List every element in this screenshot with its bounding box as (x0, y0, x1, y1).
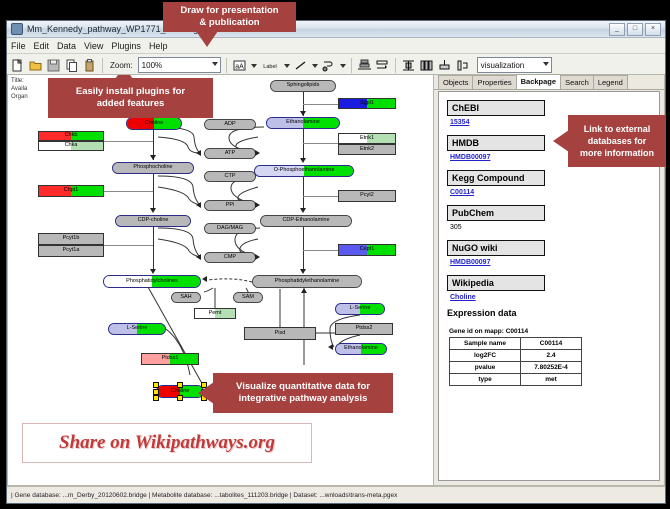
db-value-pubchem: 305 (450, 224, 651, 231)
copy-icon[interactable] (64, 58, 79, 73)
status-bar-text: | Gene database: ...m_Derby_20120602.bri… (11, 492, 397, 499)
node-label: CTP (225, 174, 236, 180)
node-label: ATP (225, 151, 235, 157)
node-label: Ptdss1 (162, 356, 179, 362)
metabolite-node-cdp-ethanolamine[interactable]: CDP-Ethanolamine (260, 215, 352, 227)
gene-node-pcyt2[interactable]: Pcyt2 (338, 190, 396, 202)
db-header-chebi: ChEBI (447, 100, 545, 116)
node-label: CDP-choline (138, 218, 169, 224)
group-icon[interactable] (437, 58, 452, 73)
toolbar-separator (395, 58, 396, 73)
node-label: Choline (171, 389, 190, 395)
callout-draw-tail (196, 31, 218, 47)
node-label: Pcyt2 (360, 193, 374, 199)
metabolite-node-ethanolamine-right[interactable]: Ethanolamine (335, 343, 387, 355)
callout-plugins: Easily install plugins for added feature… (48, 78, 213, 118)
callout-visualize-tail (198, 382, 214, 404)
menu-item-edit[interactable]: Edit (34, 41, 50, 51)
menu-item-file[interactable]: File (11, 41, 26, 51)
node-label: Ethanolamine (286, 120, 320, 126)
text-label-icon[interactable]: aA (232, 58, 247, 73)
db-header-pubchem: PubChem (447, 205, 545, 221)
callout-draw: Draw for presentation & publication (163, 2, 296, 32)
metabolite-node-sam[interactable]: SAM (233, 292, 263, 303)
db-header-wikipedia: Wikipedia (447, 275, 545, 291)
node-label: L-Serine (127, 326, 148, 332)
window-controls: _ □ × (609, 23, 661, 36)
metabolite-node-ethanolamine-top[interactable]: Ethanolamine (266, 117, 340, 129)
paste-icon[interactable] (82, 58, 97, 73)
app-icon (11, 23, 23, 35)
node-label: Chkb (65, 133, 78, 139)
arrow-icon (150, 208, 156, 213)
arrow-icon (255, 254, 260, 260)
gene-node-ptdss1[interactable]: Ptdss1 (141, 353, 199, 365)
chevron-down-icon (212, 62, 218, 66)
arrow-icon (202, 276, 207, 282)
open-folder-icon[interactable] (28, 58, 43, 73)
share-banner: Share on Wikipathways.org (22, 423, 312, 463)
gene-node-cept1[interactable]: Cept1 (338, 244, 396, 256)
table-cell-value: 7.80252E-4 (521, 362, 582, 374)
gene-node-ptdss2[interactable]: Ptdss2 (335, 323, 393, 335)
menu-item-view[interactable]: View (84, 41, 103, 51)
metabolite-node-cdp-choline[interactable]: CDP-choline (115, 215, 191, 227)
table-row: Sample nameC00114 (450, 338, 582, 350)
node-label: Phosphatidylethanolamine (275, 279, 340, 285)
chevron-down-icon (543, 62, 549, 66)
node-label: CDP-Ethanolamine (282, 218, 329, 224)
zoom-value: 100% (142, 61, 162, 70)
svg-text:Label: Label (263, 64, 276, 70)
node-label: Pisd (275, 331, 286, 337)
order-icon[interactable] (375, 58, 390, 73)
gene-node-chka[interactable]: Chka (38, 141, 104, 151)
node-label: DAG/MAG (217, 226, 243, 232)
selection-handle[interactable] (153, 382, 159, 388)
node-label: Chpt1 (64, 188, 79, 194)
gene-node-sgpl1[interactable]: Sgpl1 (338, 98, 396, 109)
align-icon[interactable] (357, 58, 372, 73)
node-label: Pcyt1b (63, 236, 80, 242)
chevron-down-icon[interactable] (311, 59, 318, 72)
node-label: Etnk2 (360, 147, 374, 153)
metabolite-node-cmp[interactable]: CMP (204, 252, 256, 263)
metabolite-node-l-serine-right[interactable]: L-Serine (335, 303, 385, 315)
gene-id-line: Gene id on mapp: C00114 (449, 328, 651, 335)
gene-node-pcyt1b[interactable]: Pcyt1b (38, 233, 104, 245)
anchor-tool-icon[interactable] (321, 58, 336, 73)
callout-visualize: Visualize quantitative data for integrat… (213, 373, 393, 413)
arrow-icon (196, 202, 201, 208)
node-label: Phosphocholine (133, 165, 172, 171)
node-label: Pemt (209, 311, 222, 317)
table-cell-key: log2FC (450, 350, 521, 362)
gene-node-pemt[interactable]: Pemt (194, 308, 236, 319)
node-label: Ethanolamine (344, 346, 378, 352)
arrow-icon (196, 254, 201, 260)
callout-plugins-tail (113, 74, 135, 82)
tab-properties[interactable]: Properties (472, 75, 516, 89)
arrow-icon (300, 269, 306, 274)
gene-node-pcyt1a[interactable]: Pcyt1a (38, 245, 104, 257)
arrow-icon (300, 111, 306, 116)
metabolite-node-l-serine-left[interactable]: L-Serine (108, 323, 166, 335)
node-label: O-Phosphoethanolamine (274, 168, 335, 174)
arrow-icon (300, 208, 306, 213)
menu-item-help[interactable]: Help (149, 41, 168, 51)
callout-links-tail (553, 130, 569, 152)
share-banner-text: Share on Wikipathways.org (59, 432, 275, 454)
toolbar-separator (102, 58, 103, 73)
menu-bar: File Edit Data View Plugins Help (7, 38, 665, 54)
distribute-icon[interactable] (401, 58, 416, 73)
node-label: SAH (180, 295, 191, 301)
node-label: Cept1 (360, 247, 375, 253)
node-label: Sgpl1 (360, 101, 374, 107)
arrow-icon (300, 158, 306, 163)
expression-data-table: Sample nameC00114log2FC2.4pvalue7.80252E… (449, 337, 582, 386)
arrow-icon (255, 202, 260, 208)
chevron-down-icon[interactable] (250, 59, 257, 72)
arrow-icon (301, 288, 307, 293)
tab-objects[interactable]: Objects (438, 75, 473, 89)
label-tool-icon[interactable]: Label (260, 58, 280, 73)
node-label: Phosphatidylcholines (126, 279, 178, 285)
svg-text:aA: aA (235, 63, 244, 70)
db-header-nugo-wiki: NuGO wiki (447, 240, 545, 256)
metabolite-node-choline-top[interactable]: Choline (126, 117, 182, 130)
node-label: L-Serine (350, 306, 371, 312)
selection-handle[interactable] (153, 389, 159, 395)
table-row: log2FC2.4 (450, 350, 582, 362)
tab-backpage[interactable]: Backpage (516, 74, 561, 89)
db-header-kegg-compound: Kegg Compound (447, 170, 545, 186)
metabolite-node-sah[interactable]: SAH (171, 292, 201, 303)
tab-search[interactable]: Search (560, 75, 594, 89)
side-panel-tabs: ObjectsPropertiesBackpageSearchLegend (434, 75, 664, 90)
arrow-icon (150, 269, 156, 274)
gene-node-chpt1[interactable]: Chpt1 (38, 185, 104, 197)
metabolite-node-o-phosphoethanolamine[interactable]: O-Phosphoethanolamine (254, 165, 354, 177)
chevron-down-icon[interactable] (339, 59, 346, 72)
metabolite-node-phosphocholine[interactable]: Phosphocholine (112, 162, 194, 174)
db-value-wikipedia[interactable]: Choline (450, 294, 651, 301)
node-label: Ptdss2 (356, 326, 373, 332)
gene-node-chkb[interactable]: Chkb (38, 131, 104, 141)
metabolite-node-ctp[interactable]: CTP (204, 171, 256, 182)
close-button[interactable]: × (645, 23, 661, 36)
node-label: Pcyt1a (63, 248, 80, 254)
node-label: Chka (65, 143, 78, 149)
selection-handle[interactable] (177, 382, 183, 388)
table-cell-key: pvalue (450, 362, 521, 374)
node-label: SAM (242, 295, 254, 301)
metabolite-node-phosphatidylethanolamine[interactable]: Phosphatidylethanolamine (252, 275, 362, 288)
tab-legend[interactable]: Legend (593, 75, 628, 89)
callout-links: Link to external databases for more info… (568, 115, 666, 167)
selection-handle[interactable] (153, 395, 159, 401)
db-value-kegg-compound[interactable]: C00114 (450, 189, 651, 196)
table-cell-key: Sample name (450, 338, 521, 350)
visualization-combo[interactable]: visualization (477, 57, 552, 73)
metabolite-node-adp[interactable]: ADP (204, 119, 256, 130)
arrow-icon (328, 344, 333, 350)
new-file-icon[interactable] (10, 58, 25, 73)
node-label: Choline (145, 121, 164, 127)
line-tool-icon[interactable] (293, 58, 308, 73)
toolbar-separator (226, 58, 227, 73)
gene-node-etnk1[interactable]: Etnk1 (338, 133, 396, 144)
table-cell-key: type (450, 374, 521, 386)
zoom-label: Zoom: (110, 61, 133, 70)
node-label: ADP (224, 122, 235, 128)
zoom-combo[interactable]: 100% (138, 57, 221, 73)
arrow-icon (150, 155, 156, 160)
expression-data-title: Expression data (447, 308, 651, 318)
metabolite-node-ppi[interactable]: PPi (204, 200, 256, 211)
node-label: Sphingolipids (287, 83, 320, 89)
selection-handle[interactable] (177, 395, 183, 401)
stack-icon[interactable] (419, 58, 434, 73)
arrow-icon (196, 150, 201, 156)
visualization-value: visualization (481, 61, 525, 70)
window-titlebar: Mm_Kennedy_pathway_WP1771_45176.gpml _ □… (7, 21, 665, 38)
chevron-down-icon[interactable] (283, 59, 290, 72)
node-label: CMP (224, 255, 236, 261)
metabolite-node-phosphatidylcholines[interactable]: Phosphatidylcholines (103, 275, 201, 288)
application-window: Mm_Kennedy_pathway_WP1771_45176.gpml _ □… (6, 20, 666, 504)
node-label: PPi (226, 203, 235, 209)
save-icon[interactable] (46, 58, 61, 73)
maximize-button[interactable]: □ (627, 23, 643, 36)
table-row: typemet (450, 374, 582, 386)
table-cell-value: met (521, 374, 582, 386)
db-value-nugo-wiki[interactable]: HMDB00097 (450, 259, 651, 266)
screenshot-root: Mm_Kennedy_pathway_WP1771_45176.gpml _ □… (0, 0, 670, 509)
pathway-canvas[interactable]: Title: Availa Organ (7, 74, 434, 486)
node-label: Etnk1 (360, 136, 374, 142)
metabolite-node-atp[interactable]: ATP (204, 148, 256, 159)
metabolite-node-dagmag[interactable]: DAG/MAG (204, 223, 256, 234)
status-bar: | Gene database: ...m_Derby_20120602.bri… (7, 486, 665, 503)
menu-item-plugins[interactable]: Plugins (111, 41, 141, 51)
minimize-button[interactable]: _ (609, 23, 625, 36)
gene-node-etnk2[interactable]: Etnk2 (338, 144, 396, 155)
layout-icon[interactable] (455, 58, 470, 73)
table-cell-value: 2.4 (521, 350, 582, 362)
toolbar-separator (351, 58, 352, 73)
table-row: pvalue7.80252E-4 (450, 362, 582, 374)
table-cell-value: C00114 (521, 338, 582, 350)
gene-node-pisd[interactable]: Pisd (244, 327, 316, 340)
menu-item-data[interactable]: Data (57, 41, 76, 51)
metabolite-node-sphingolipids[interactable]: Sphingolipids (270, 80, 336, 92)
db-header-hmdb: HMDB (447, 135, 545, 151)
arrow-icon (255, 150, 260, 156)
